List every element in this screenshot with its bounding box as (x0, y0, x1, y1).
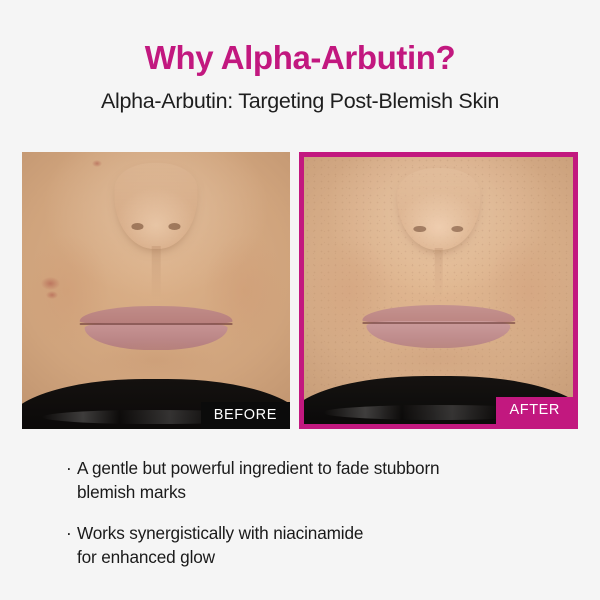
benefit-text: Works synergistically with niacinamide f… (77, 521, 566, 570)
benefit-text: A gentle but powerful ingredient to fade… (77, 456, 566, 505)
after-face-photo (304, 157, 573, 424)
right-nostril (168, 223, 180, 230)
lip-line (80, 323, 233, 325)
before-after-comparison: BEFORE AFTER (22, 152, 578, 429)
before-photo-panel: BEFORE (22, 152, 290, 429)
benefit-item: · A gentle but powerful ingredient to fa… (66, 456, 566, 505)
page-title: Why Alpha-Arbutin? (0, 41, 600, 74)
blemish-mark (41, 277, 60, 291)
chin-shading (94, 338, 217, 382)
philtrum (434, 248, 443, 299)
before-face-photo (22, 152, 290, 429)
upper-lip (80, 306, 233, 325)
right-nostril (451, 226, 464, 233)
before-badge: BEFORE (201, 402, 290, 430)
benefits-list: · A gentle but powerful ingredient to fa… (66, 456, 566, 570)
blemish-mark (92, 160, 103, 167)
page-subtitle: Alpha-Arbutin: Targeting Post-Blemish Sk… (0, 91, 600, 113)
nose (114, 163, 197, 249)
philtrum (152, 246, 161, 299)
left-nostril (131, 223, 143, 230)
upper-lip (362, 305, 515, 323)
bullet-marker-icon: · (66, 456, 77, 505)
after-photo-panel: AFTER (299, 152, 578, 429)
header: Why Alpha-Arbutin? Alpha-Arbutin: Target… (0, 0, 600, 113)
chin-shading (377, 336, 501, 379)
benefit-item: · Works synergistically with niacinamide… (66, 521, 566, 570)
left-nostril (413, 226, 426, 233)
lip-line (362, 322, 515, 324)
bullet-marker-icon: · (66, 521, 77, 570)
after-badge: AFTER (496, 397, 573, 425)
